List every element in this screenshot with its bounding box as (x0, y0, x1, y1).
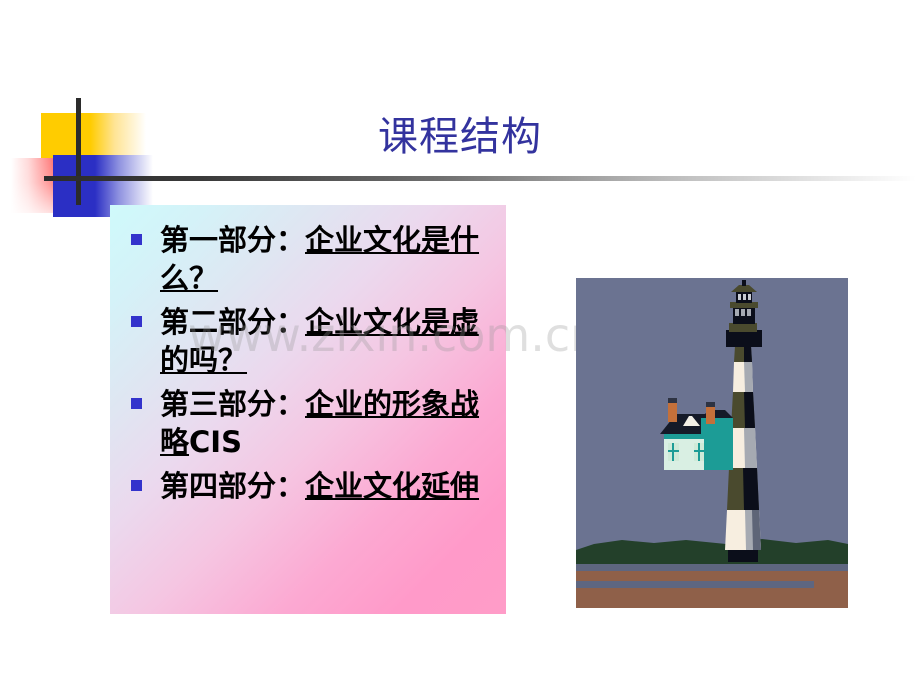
lighthouse-illustration (576, 278, 848, 608)
list-item: 第三部分：企业的形象战略CIS (110, 385, 506, 461)
bullet-square-icon (131, 316, 142, 327)
list-item: 第一部分：企业文化是什么？ (110, 221, 506, 297)
decoration-horizontal-rule (44, 176, 916, 181)
list-item-prefix: 第三部分： (160, 387, 305, 421)
list-item-prefix: 第四部分： (160, 469, 305, 503)
list-item-prefix: 第一部分： (160, 223, 305, 257)
bullet-square-icon (131, 480, 142, 491)
list-item-prefix: 第二部分： (160, 305, 305, 339)
list-item-underlined: 企业文化延伸 (305, 469, 479, 503)
list-item-plain: CIS (189, 425, 242, 459)
page-title: 课程结构 (300, 113, 620, 161)
bullet-square-icon (131, 398, 142, 409)
agenda-list: 第一部分：企业文化是什么？ 第二部分：企业文化是虚的吗？ 第三部分：企业的形象战… (110, 221, 506, 505)
slide-canvas: 课程结构 第一部分：企业文化是什么？ 第二部分：企业文化是虚的吗？ 第三部分：企… (0, 0, 920, 690)
list-item: 第二部分：企业文化是虚的吗？ (110, 303, 506, 379)
content-panel: 第一部分：企业文化是什么？ 第二部分：企业文化是虚的吗？ 第三部分：企业的形象战… (110, 205, 506, 614)
decoration-vertical-bar (76, 98, 81, 205)
bullet-square-icon (131, 234, 142, 245)
lighthouse-photo (576, 278, 848, 608)
list-item: 第四部分：企业文化延伸 (110, 467, 506, 505)
